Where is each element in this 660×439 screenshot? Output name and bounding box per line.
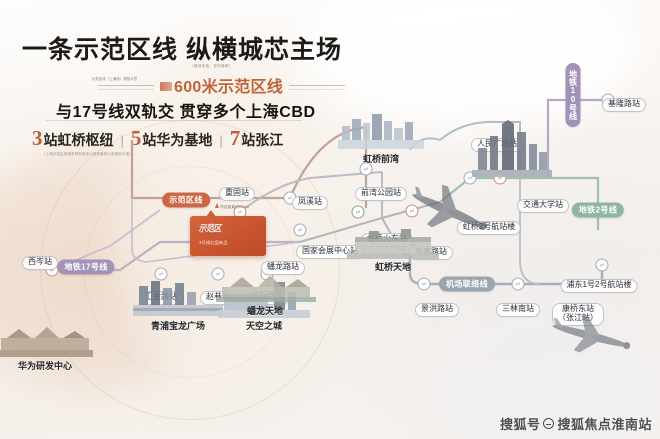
distance-note: 项目距离约600m [220,205,249,210]
project-logo-text: 示范区 [198,222,261,235]
station-node-sanlin-south[interactable]: ⇄ [512,278,525,291]
line-badge-demo[interactable]: 示范区线 [162,193,210,208]
watermark-inner: 搜狐号 搜狐焦点淮南站 [500,414,652,433]
transfer-glyph: ⇄ [516,281,520,287]
station-label-jinghong-road[interactable]: 景洪路站 [415,303,459,317]
place-label-qingpu-baolong[interactable]: 青浦宝龙广场 [151,319,205,332]
project-logo-subtext: 3号线红盘新品 [199,240,261,246]
poster-canvas: 一条示范区线 纵横城芯主场 示范区线（上海段）规划示意 （规划信息，仅供参考） … [0,0,660,439]
transfer-glyph: ⇄ [600,262,604,268]
station-label-jiaotong-univ[interactable]: 交通大学站 [517,199,569,213]
distance-arrow-icon [215,203,219,208]
transfer-glyph: ⇄ [364,166,368,172]
line-badge-metro2[interactable]: 地铁2号线 [572,203,624,218]
airplane-icon-pudong [546,308,636,364]
place-label-hongqiao-qianwan[interactable]: 虹桥前湾 [363,152,399,165]
transfer-glyph: ⇄ [422,281,426,287]
transit-map: ⇄ ⇄ ⇄ ⇄ ⇄ ⇄ ⇄ ⇄ ⇄ ⇄ ⇄ ⇄ ⇄ ⇄ ⇄ ⇄ ⇄ 重固站 凤溪… [0,60,660,439]
station-label-sanlin-south[interactable]: 三林南站 [496,303,540,317]
illustration-hongqiao-qianwan [338,110,424,150]
station-node-pudong-t1t2[interactable]: ⇄ [596,259,609,272]
line-airport-path-3 [520,178,540,284]
station-node-hongqiao-rail[interactable]: ⇄ [352,206,365,219]
airplane-icon-hongqiao [404,180,494,242]
station-node-jinghong-road[interactable]: ⇄ [418,278,431,291]
station-label-jilong-road[interactable]: 基隆路站 [602,98,646,112]
illustration-shanghai-skyline [472,118,552,178]
station-node-nech[interactable]: ⇄ [294,224,307,237]
place-label-sky-city[interactable]: 天空之城 [246,319,282,332]
illustration-qingpu-baolong-plaza [129,278,227,318]
project-marker-card[interactable]: 示范区 3号线红盘新品 [190,216,266,256]
watermark-prefix: 搜狐号 [500,414,541,433]
transfer-glyph: ⇄ [356,209,360,215]
illustration-panlong-tiandi [216,267,316,303]
place-label-panlong-tiandi[interactable]: 蟠龙天地 [247,304,283,317]
illustration-huawei-rnd-center [0,322,93,358]
watermark-suffix: 搜狐焦点淮南站 [557,414,652,433]
station-label-pudong-t1t2[interactable]: 浦东1号2号航站楼 [561,279,638,293]
watermark: 搜狐号 搜狐焦点淮南站 [500,414,652,433]
copyright-icon [543,418,554,429]
line-badge-metro17[interactable]: 地铁17号线 [57,260,114,275]
line-demo-path [132,140,290,198]
line-badge-metro10[interactable]: 地铁10号线 [566,63,581,127]
transfer-glyph: ⇄ [159,271,163,277]
line-badge-airport[interactable]: 机场联络线 [439,277,495,292]
place-label-huawei-rnd[interactable]: 华为研发中心 [18,359,72,372]
place-label-hongqiao-tiandi[interactable]: 虹桥天地 [375,260,411,273]
station-label-fengxi[interactable]: 凤溪站 [292,196,328,210]
station-label-zhonggu[interactable]: 重固站 [219,187,255,201]
station-label-qianwan-park[interactable]: 前湾公园站 [355,187,407,201]
station-label-xicen[interactable]: 西岑站 [22,256,58,270]
transfer-glyph: ⇄ [298,227,302,233]
